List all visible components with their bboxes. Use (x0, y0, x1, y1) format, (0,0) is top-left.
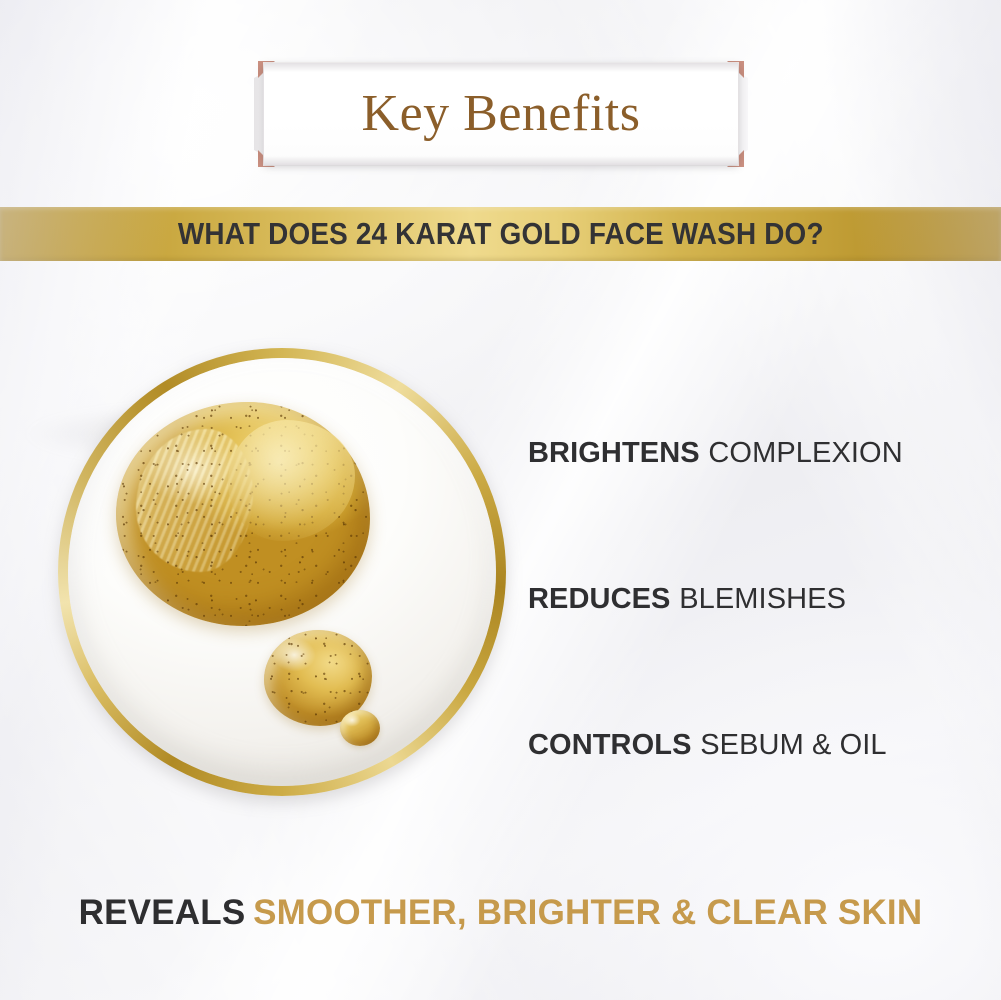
footer-claim-lead: REVEALS (79, 893, 246, 932)
gold-gel-circle (58, 348, 506, 796)
gold-question-banner: WHAT DOES 24 KARAT GOLD FACE WASH DO? (0, 207, 1001, 261)
circle-inner-surface (68, 358, 496, 786)
benefit-detail: COMPLEXION (708, 437, 902, 470)
page-title: Key Benefits (362, 88, 641, 140)
benefit-item-brightens: BRIGHTENS COMPLEXION (528, 380, 968, 526)
gel-droplet-large (116, 402, 370, 626)
key-benefits-ribbon: Key Benefits (252, 56, 750, 172)
benefit-keyword: CONTROLS (528, 729, 692, 762)
benefit-detail: BLEMISHES (679, 583, 846, 616)
benefit-item-reduces: REDUCES BLEMISHES (528, 526, 968, 672)
benefit-keyword: BRIGHTENS (528, 437, 700, 470)
footer-claim-highlight: SMOOTHER, BRIGHTER & CLEAR SKIN (253, 893, 922, 932)
banner-text: WHAT DOES 24 KARAT GOLD FACE WASH DO? (178, 216, 824, 252)
benefit-detail: SEBUM & OIL (700, 729, 886, 762)
benefit-keyword: REDUCES (528, 583, 671, 616)
gel-speckles (264, 630, 372, 726)
ribbon-panel: Key Benefits (264, 63, 738, 165)
gold-ring-border (58, 348, 506, 796)
gel-droplet-small (340, 710, 380, 746)
gel-droplet-medium (264, 630, 372, 726)
benefit-item-controls: CONTROLS SEBUM & OIL (528, 672, 968, 818)
page-background: Key Benefits WHAT DOES 24 KARAT GOLD FAC… (0, 0, 1001, 1000)
benefits-list: BRIGHTENS COMPLEXION REDUCES BLEMISHES C… (528, 380, 968, 818)
footer-claim: REVEALSSMOOTHER, BRIGHTER & CLEAR SKIN (0, 893, 1001, 933)
gel-speckles (116, 402, 370, 626)
